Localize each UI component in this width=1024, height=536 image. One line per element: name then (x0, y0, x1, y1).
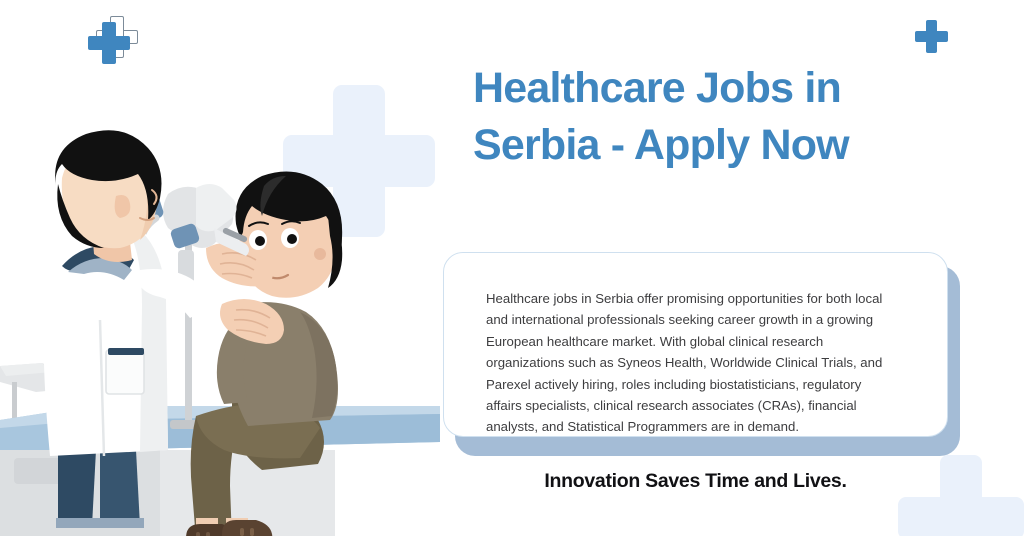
medical-cross-bottom-right-pale-icon (898, 455, 1024, 536)
cross-bar-vertical (926, 20, 937, 53)
doctor-examining-patient-illustration (0, 120, 440, 536)
medical-cross-top-left-layered-icon (88, 22, 133, 67)
cross-bar-vertical (102, 22, 116, 64)
page-title: Healthcare Jobs in Serbia - Apply Now (473, 60, 943, 174)
description-card: Healthcare jobs in Serbia offer promisin… (443, 252, 948, 437)
description-card-wrapper: Healthcare jobs in Serbia offer promisin… (443, 252, 948, 447)
medical-cross-top-right-solid-icon (915, 20, 948, 53)
poster-canvas: Healthcare Jobs in Serbia - Apply Now He… (0, 0, 1024, 536)
cross-bar-vertical (940, 455, 983, 536)
description-text: Healthcare jobs in Serbia offer promisin… (486, 288, 894, 438)
cross-solid-layer (88, 22, 130, 64)
tagline: Innovation Saves Time and Lives. (443, 470, 948, 493)
